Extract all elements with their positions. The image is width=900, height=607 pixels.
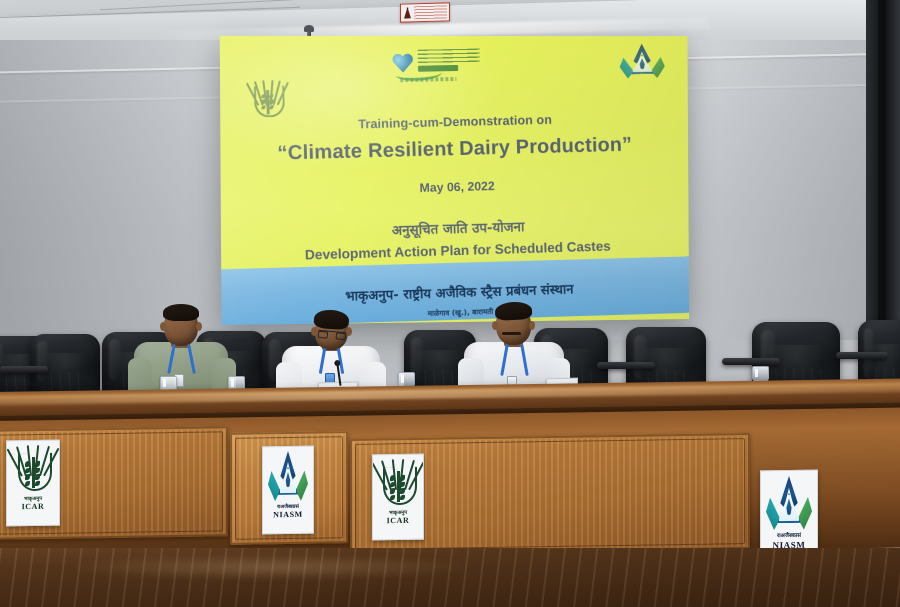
- icar-logo-icon: [13, 445, 53, 496]
- person-center-glasses-icon: [318, 330, 346, 338]
- icar-caption-english: ICAR: [387, 517, 410, 525]
- icar-logo-icon: [378, 459, 418, 510]
- sign-text-lines: [414, 5, 447, 19]
- water-tumbler: [752, 366, 769, 381]
- niasm-caption-hindi: राअजैस्त्रप्रसं: [777, 534, 801, 540]
- slide-kicker-text: Training-cum-Demonstration on: [220, 109, 687, 134]
- slide-date-text: May 06, 2022: [221, 174, 689, 200]
- person-center-ear: [311, 327, 317, 336]
- emblem-green-bar: [418, 65, 458, 72]
- ceiling-safety-sign: [400, 2, 450, 22]
- chair-armrest: [722, 358, 780, 365]
- person-left-ear: [160, 322, 166, 331]
- government-emblem-icon: [388, 46, 529, 98]
- person-right-hair: [495, 301, 533, 321]
- dais-logo-card-niasm: राअजैस्त्रप्रसं NIASM: [262, 446, 314, 535]
- person-center-hair: [313, 309, 349, 330]
- emblem-hindi-text-lines: [418, 49, 480, 65]
- water-tumbler: [398, 372, 415, 387]
- wall-right-dark-stripe: [878, 0, 886, 330]
- wall-shadow-left: [0, 40, 240, 340]
- icar-caption-english: ICAR: [22, 503, 45, 511]
- person-right-ear: [492, 321, 498, 330]
- dais-logo-card-icar: भाकृअनुप ICAR: [372, 454, 424, 541]
- dais-logo-card-icar: भाकृअनुप ICAR: [6, 440, 60, 527]
- sign-pictogram-icon: [404, 7, 411, 18]
- emblem-tagline-lines: [401, 77, 457, 82]
- projection-screen: Training-cum-Demonstration on “Climate R…: [220, 36, 689, 325]
- chair-armrest: [836, 352, 888, 359]
- person-right-ear: [529, 321, 535, 330]
- stage-floor: [0, 548, 900, 607]
- conference-hall-photo: Training-cum-Demonstration on “Climate R…: [0, 0, 900, 607]
- person-left-ear: [196, 322, 202, 331]
- slide-icar-emblem-icon: [249, 80, 285, 121]
- niasm-logo-icon: [268, 451, 308, 504]
- person-left-hair: [163, 304, 199, 321]
- niasm-logo-icon: [766, 476, 812, 533]
- person-right-moustache: [502, 332, 521, 335]
- slide-title-text: “Climate Resilient Dairy Production”: [220, 132, 688, 167]
- chair-armrest: [0, 366, 48, 373]
- chair-armrest: [597, 362, 655, 369]
- floor-sheen: [60, 554, 480, 580]
- slide-niasm-logo-icon: [619, 43, 665, 92]
- presentation-slide: Training-cum-Demonstration on “Climate R…: [220, 36, 689, 325]
- person-center-ear: [346, 327, 352, 336]
- niasm-caption-english: NIASM: [273, 511, 303, 519]
